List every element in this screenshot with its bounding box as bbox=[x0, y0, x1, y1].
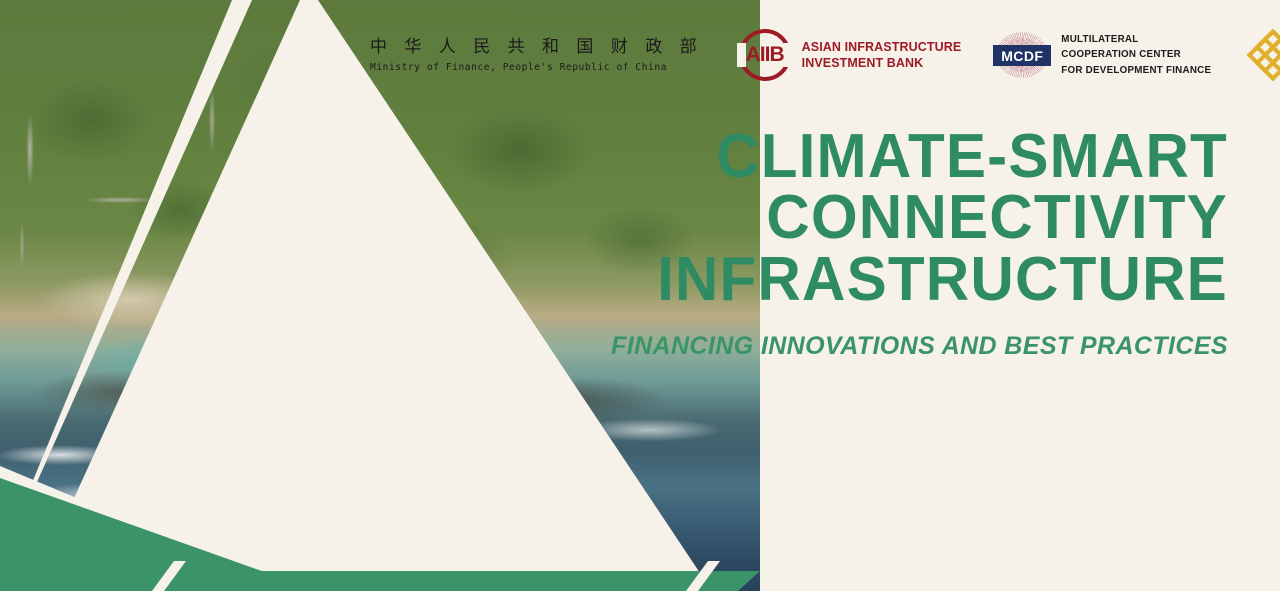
mcdf-name-line-1: MULTILATERAL bbox=[1061, 32, 1211, 47]
mcdf-name-line-2: COOPERATION CENTER bbox=[1061, 47, 1211, 62]
mcdf-wordmark: MULTILATERAL COOPERATION CENTER FOR DEVE… bbox=[1061, 32, 1211, 78]
mcdf-monogram: MCDF bbox=[1001, 48, 1043, 64]
title-line-3: INFRASTRUCTURE bbox=[630, 249, 1228, 310]
wri-endless-knot-icon bbox=[1245, 27, 1280, 83]
logo-aiib: AIIB ASIAN INFRASTRUCTURE INVESTMENT BAN… bbox=[721, 24, 978, 86]
aiib-name-line-2: INVESTMENT BANK bbox=[802, 55, 962, 71]
headline-block: CLIMATE-SMART CONNECTIVITY INFRASTRUCTUR… bbox=[611, 126, 1228, 361]
mcdf-seal-icon: MCDF bbox=[993, 32, 1051, 78]
mof-english-name: Ministry of Finance, People's Republic o… bbox=[370, 62, 667, 73]
logo-ministry-of-finance-china: 中 华 人 民 共 和 国 财 政 部 Ministry of Finance,… bbox=[370, 24, 721, 86]
subtitle: FINANCING INNOVATIONS AND BEST PRACTICES bbox=[611, 332, 1228, 361]
title-line-1: CLIMATE-SMART bbox=[630, 126, 1228, 187]
report-cover-banner: 中 华 人 民 共 和 国 财 政 部 Ministry of Finance,… bbox=[0, 0, 1280, 591]
aiib-wordmark: ASIAN INFRASTRUCTURE INVESTMENT BANK bbox=[802, 39, 962, 71]
title-line-2: CONNECTIVITY bbox=[630, 187, 1228, 248]
partner-logo-row: 中 华 人 民 共 和 国 财 政 部 Ministry of Finance,… bbox=[370, 24, 1280, 86]
logo-world-resources-institute: WORLD RESOURCES INSTITUTE bbox=[1227, 24, 1280, 86]
aiib-name-line-1: ASIAN INFRASTRUCTURE bbox=[802, 39, 962, 55]
green-bottom-bar bbox=[0, 571, 760, 591]
mcdf-monogram-box: MCDF bbox=[993, 45, 1051, 66]
mcdf-name-line-3: FOR DEVELOPMENT FINANCE bbox=[1061, 63, 1211, 78]
aiib-ring-icon: AIIB bbox=[739, 29, 791, 81]
aiib-monogram: AIIB bbox=[739, 43, 791, 67]
logo-mcdf: MCDF MULTILATERAL COOPERATION CENTER FOR… bbox=[977, 24, 1227, 86]
mof-chinese-name: 中 华 人 民 共 和 国 财 政 部 bbox=[370, 37, 703, 57]
